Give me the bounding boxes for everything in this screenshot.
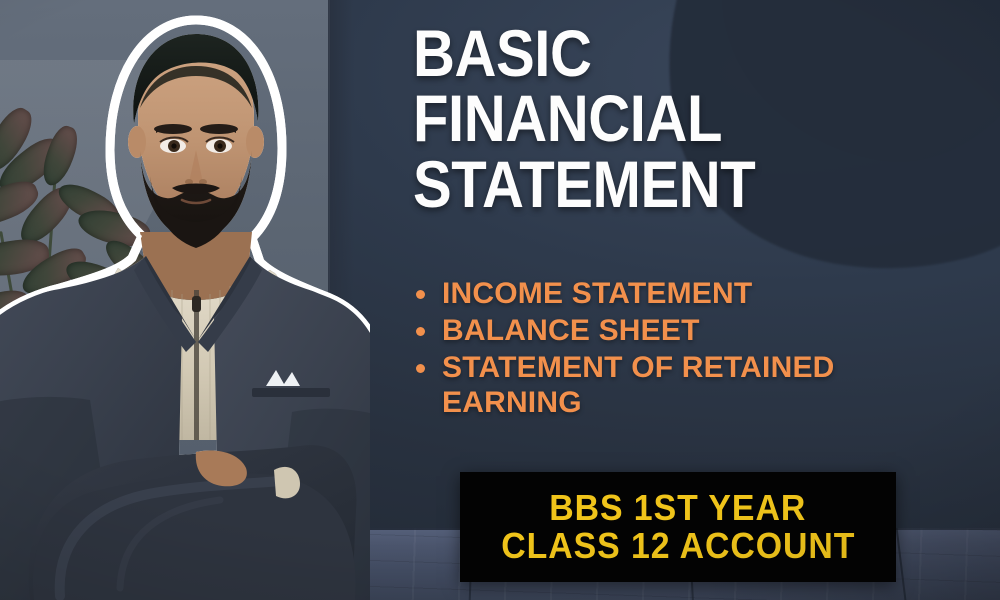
vignette-overlay — [0, 0, 1000, 600]
thumbnail-canvas: BASIC FINANCIAL STATEMENT INCOME STATEME… — [0, 0, 1000, 600]
